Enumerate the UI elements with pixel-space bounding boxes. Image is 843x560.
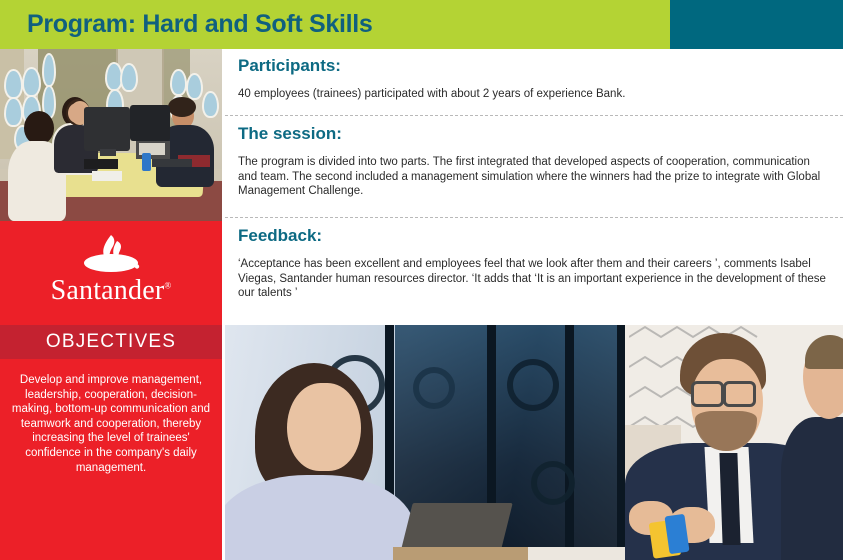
- section-body: 40 employees (trainees) participated wit…: [225, 78, 843, 102]
- section-body: ‘Acceptance has been excellent and emplo…: [225, 248, 843, 301]
- header-teal-band: [670, 0, 843, 49]
- page-header: Program: Hard and Soft Skills: [0, 0, 843, 49]
- business-meeting-photo: [225, 325, 843, 560]
- santander-wordmark: Santander®: [0, 275, 222, 307]
- santander-brand-block: Santander®: [0, 221, 222, 325]
- santander-wordmark-text: Santander: [51, 275, 165, 306]
- page-title: Program: Hard and Soft Skills: [27, 5, 373, 43]
- santander-flame-icon: [77, 233, 145, 273]
- objectives-body: Develop and improve management, leadersh…: [0, 359, 222, 560]
- objectives-title: OBJECTIVES: [46, 331, 176, 353]
- section-feedback: Feedback: ‘Acceptance has been excellent…: [225, 224, 843, 301]
- left-column: Santander® OBJECTIVES Develop and improv…: [0, 49, 222, 560]
- objectives-header-bar: OBJECTIVES: [0, 325, 222, 359]
- section-the-session: The session: The program is divided into…: [225, 122, 843, 199]
- section-divider: [225, 115, 843, 116]
- section-heading: The session:: [225, 122, 843, 146]
- slide-page: Program: Hard and Soft Skills: [0, 0, 843, 560]
- santander-logo: Santander®: [0, 233, 222, 307]
- registered-mark: ®: [164, 281, 171, 291]
- section-divider: [225, 217, 843, 218]
- section-body: The program is divided into two parts. T…: [225, 146, 843, 199]
- section-heading: Feedback:: [225, 224, 843, 248]
- training-room-photo: [0, 49, 222, 221]
- objectives-text: Develop and improve management, leadersh…: [10, 373, 212, 475]
- section-heading: Participants:: [225, 54, 843, 78]
- section-participants: Participants: 40 employees (trainees) pa…: [225, 54, 843, 102]
